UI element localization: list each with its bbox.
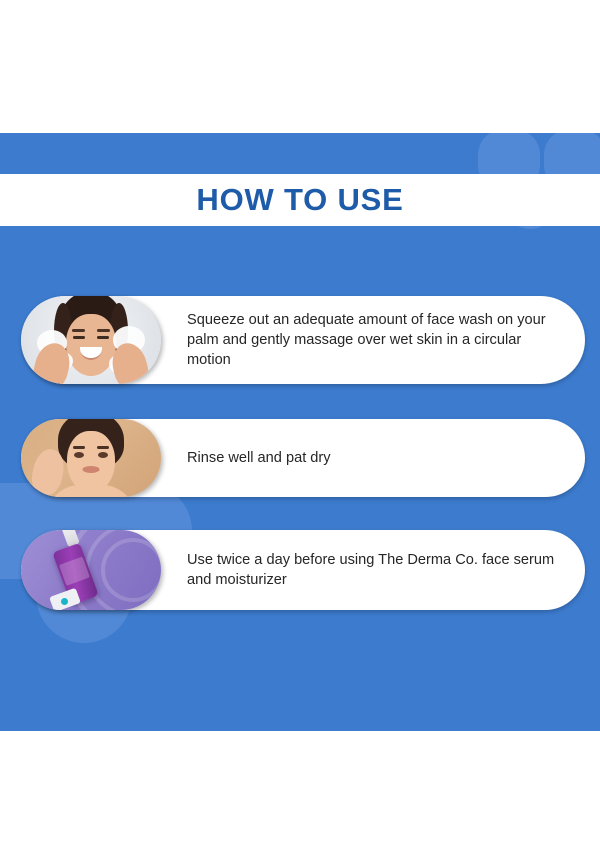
step-1-text: Squeeze out an adequate amount of face w… [161, 310, 585, 370]
bottle-label [59, 557, 90, 586]
woman-touching-clean-face-photo [21, 419, 161, 497]
steps-list: Squeeze out an adequate amount of face w… [0, 0, 600, 866]
ripple-ring-inner [101, 538, 161, 602]
eyebrow-left [72, 329, 85, 332]
eyebrow-left [73, 446, 85, 449]
step-2-thumbnail [21, 419, 161, 497]
purple-serum-dropper-bottle-photo [21, 530, 161, 610]
eyebrow-right [97, 446, 109, 449]
eye-left-closed [73, 336, 85, 339]
step-card-3[interactable]: Use twice a day before using The Derma C… [22, 530, 585, 610]
step-card-1[interactable]: Squeeze out an adequate amount of face w… [22, 296, 585, 384]
eyebrow-right [97, 329, 110, 332]
lips-shape [83, 466, 100, 473]
step-3-thumbnail [21, 530, 161, 610]
eye-right-closed [97, 336, 109, 339]
step-1-thumbnail [21, 296, 161, 384]
eye-right [98, 452, 108, 458]
eye-left [74, 452, 84, 458]
woman-washing-face-with-foam-photo [21, 296, 161, 384]
brand-dot-icon [61, 598, 68, 605]
step-2-text: Rinse well and pat dry [161, 448, 585, 468]
how-to-use-infographic: HOW TO USE [0, 0, 600, 866]
step-3-text: Use twice a day before using The Derma C… [161, 550, 585, 590]
face-shape [67, 431, 115, 493]
step-card-2[interactable]: Rinse well and pat dry [22, 419, 585, 497]
